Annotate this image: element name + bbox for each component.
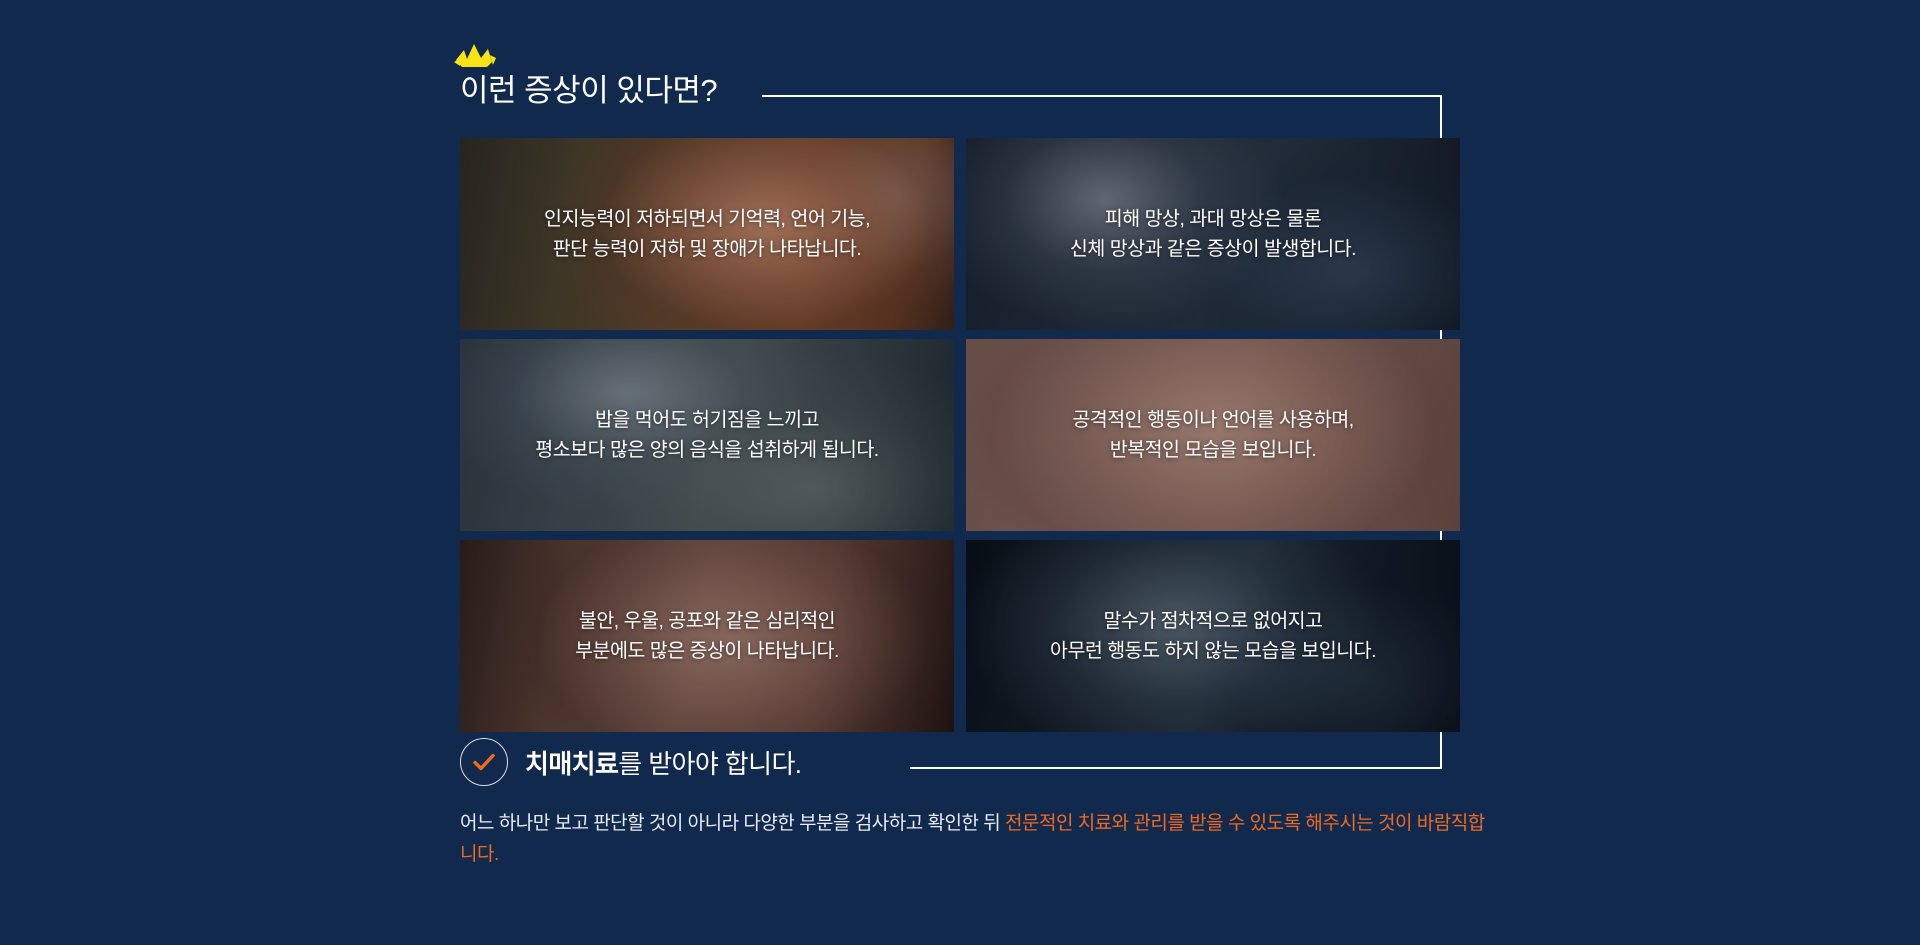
conclusion-title-rest: 를 받아야 합니다. bbox=[618, 749, 801, 779]
bracket-line-top bbox=[762, 95, 1442, 97]
card-caption: 밥을 먹어도 허기짐을 느끼고 평소보다 많은 양의 음식을 섭취하게 됩니다. bbox=[517, 405, 896, 465]
card-caption-line1: 피해 망상, 과대 망상은 물론 bbox=[1105, 208, 1321, 230]
symptom-card[interactable]: 불안, 우울, 공포와 같은 심리적인 부분에도 많은 증상이 나타납니다. bbox=[460, 540, 954, 732]
card-caption: 인지능력이 저하되면서 기억력, 언어 기능, 판단 능력이 저하 및 장애가 … bbox=[526, 204, 888, 264]
conclusion-heading: 치매치료를 받아야 합니다. bbox=[460, 738, 1470, 786]
symptom-card[interactable]: 인지능력이 저하되면서 기억력, 언어 기능, 판단 능력이 저하 및 장애가 … bbox=[460, 138, 954, 330]
page-stage: 이런 증상이 있다면? 인지능력이 저하되면서 기억력, 언어 기능, 판단 능… bbox=[0, 0, 1920, 945]
card-caption-line1: 밥을 먹어도 허기짐을 느끼고 bbox=[595, 409, 819, 431]
conclusion-body: 어느 하나만 보고 판단할 것이 아니라 다양한 부분을 검사하고 확인한 뒤 … bbox=[460, 808, 1485, 871]
check-circle-icon bbox=[460, 738, 508, 786]
card-caption: 말수가 점차적으로 없어지고 아무런 행동도 하지 않는 모습을 보입니다. bbox=[1032, 606, 1394, 666]
card-caption-line1: 불안, 우울, 공포와 같은 심리적인 bbox=[579, 610, 835, 632]
card-caption-line2: 아무런 행동도 하지 않는 모습을 보입니다. bbox=[1050, 636, 1376, 666]
card-caption: 공격적인 행동이나 언어를 사용하며, 반복적인 모습을 보입니다. bbox=[1054, 405, 1371, 465]
conclusion-body-plain: 어느 하나만 보고 판단할 것이 아니라 다양한 부분을 검사하고 확인한 뒤 bbox=[460, 813, 1005, 834]
symptom-card[interactable]: 말수가 점차적으로 없어지고 아무런 행동도 하지 않는 모습을 보입니다. bbox=[966, 540, 1460, 732]
card-caption-line1: 인지능력이 저하되면서 기억력, 언어 기능, bbox=[544, 208, 870, 230]
conclusion-title: 치매치료를 받아야 합니다. bbox=[525, 744, 801, 781]
card-caption-line2: 판단 능력이 저하 및 장애가 나타납니다. bbox=[544, 234, 870, 264]
symptom-card-grid: 인지능력이 저하되면서 기억력, 언어 기능, 판단 능력이 저하 및 장애가 … bbox=[460, 138, 1460, 732]
symptom-card[interactable]: 피해 망상, 과대 망상은 물론 신체 망상과 같은 증상이 발생합니다. bbox=[966, 138, 1460, 330]
card-caption-line2: 신체 망상과 같은 증상이 발생합니다. bbox=[1070, 234, 1356, 264]
card-caption-line1: 말수가 점차적으로 없어지고 bbox=[1103, 610, 1322, 632]
card-caption-line2: 반복적인 모습을 보입니다. bbox=[1072, 435, 1353, 465]
conclusion-title-strong: 치매치료 bbox=[525, 749, 618, 779]
page-title: 이런 증상이 있다면? bbox=[460, 58, 717, 106]
card-caption: 피해 망상, 과대 망상은 물론 신체 망상과 같은 증상이 발생합니다. bbox=[1052, 204, 1374, 264]
card-caption-line2: 평소보다 많은 양의 음식을 섭취하게 됩니다. bbox=[535, 435, 878, 465]
card-caption-line1: 공격적인 행동이나 언어를 사용하며, bbox=[1072, 409, 1353, 431]
symptom-card[interactable]: 공격적인 행동이나 언어를 사용하며, 반복적인 모습을 보입니다. bbox=[966, 339, 1460, 531]
symptom-card[interactable]: 밥을 먹어도 허기짐을 느끼고 평소보다 많은 양의 음식을 섭취하게 됩니다. bbox=[460, 339, 954, 531]
card-caption-line2: 부분에도 많은 증상이 나타납니다. bbox=[575, 636, 839, 666]
page-title-text: 이런 증상이 있다면? bbox=[460, 75, 717, 106]
card-caption: 불안, 우울, 공포와 같은 심리적인 부분에도 많은 증상이 나타납니다. bbox=[557, 606, 857, 666]
conclusion-section: 치매치료를 받아야 합니다. 어느 하나만 보고 판단할 것이 아니라 다양한 … bbox=[460, 738, 1470, 890]
